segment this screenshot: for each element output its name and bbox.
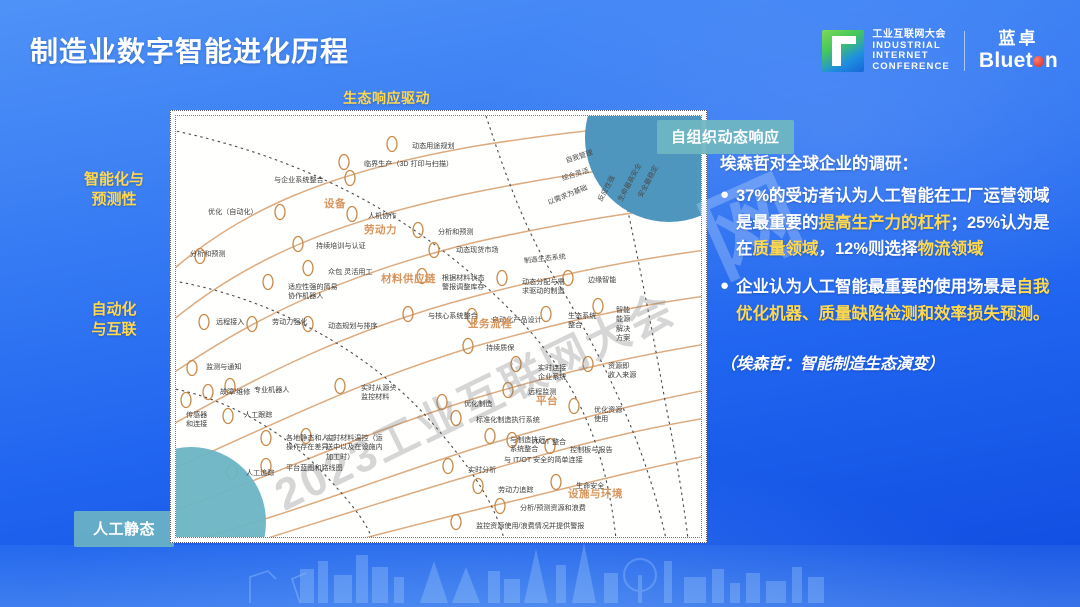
brand-name-cn: 蓝卓 (979, 30, 1058, 49)
diagram-node-label: 分析和预测 (190, 250, 225, 259)
diagram-caption-ecosystem-driven: 生态响应驱动 (343, 88, 430, 108)
insights-list: ●37%的受访者认为人工智能在工厂运营领域是最重要的提高生产力的杠杆；25%认为… (720, 183, 1062, 328)
logo-block: 工业互联网大会 INDUSTRIAL INTERNET CONFERENCE 蓝… (822, 22, 1058, 80)
diagram-node-label: 众包 灵活用工 (328, 268, 373, 277)
diagram-node-label: 人工跟踪 (244, 411, 272, 420)
diagram-node-label: 根据材料状态 警报调整库存 (442, 274, 485, 293)
bullet-icon: ● (720, 274, 736, 327)
diagram-node-label: 监测与通知 (206, 363, 241, 372)
diagram-node-label: 控制板与报告 (570, 446, 613, 455)
diagram-node-label: 实时分析 (468, 466, 496, 475)
diagram-node-label: 传感器 和连接 (186, 411, 207, 430)
insight-item: ●37%的受访者认为人工智能在工厂运营领域是最重要的提高生产力的杠杆；25%认为… (720, 183, 1062, 263)
insights-source: （埃森哲：智能制造生态演变） (720, 350, 1062, 374)
logo-divider (964, 31, 965, 71)
diagram-node-label: 劳动力追踪 (498, 486, 533, 495)
diagram-node-label: 实时连接 企业系统 (538, 364, 566, 383)
conference-name-en-line3: CONFERENCE (872, 62, 950, 73)
diagram-node-label: 资源即 收入来源 (608, 362, 636, 381)
diagram-node-label: 专业机器人 (254, 386, 289, 395)
axis-label-automation-connected: 自动化 与互联 (52, 300, 176, 340)
diagram-node-label: 动态用途规划 (412, 142, 455, 151)
insight-highlight: 提高生产力的杠杆 (819, 214, 951, 232)
diagram-node-label: 动态规划与排序 (328, 322, 378, 331)
insight-highlight: 物流领域 (918, 240, 984, 258)
diagram-node-label: 劳动力强化 (272, 318, 307, 327)
insight-text: 企业认为人工智能最重要的使用场景是自我优化机器、质量缺陷检测和效率损失预测。 (736, 274, 1062, 327)
brand-en-suffix: n (1045, 49, 1058, 72)
diagram-canvas: 2023工业互联网大会 分析和预测优化（自动化）与企业系统整合远程接入监测与通知… (175, 115, 702, 538)
diagram-group-label: 材料供应链 (381, 271, 436, 286)
diagram-node-label: 人机协作 (368, 212, 396, 221)
insight-plain: 企业认为人工智能最重要的使用场景是 (736, 278, 1017, 296)
diagram-node-label: 标准化制造执行系统 (476, 416, 540, 425)
axis-label-manual-static: 人工静态 (74, 511, 174, 547)
diagram-node-label: 分析/预测资源和浪费 (520, 504, 586, 513)
t-mark-icon (822, 30, 864, 72)
brand-name-en: Bluetn (979, 49, 1058, 72)
diagram-node-label: 实时从源头 监控材料 (361, 384, 396, 403)
diagram-group-label: 劳动力 (364, 222, 397, 237)
conference-logo: 工业互联网大会 INDUSTRIAL INTERNET CONFERENCE (822, 29, 950, 72)
diagram-group-label: 设备 (324, 196, 346, 211)
diagram-node-label: 优化（自动化） (208, 208, 258, 217)
diagram-node-label: 与企业系统整合 (274, 176, 324, 185)
diagram-node-label: 分析和预测 (438, 228, 473, 237)
diagram-group-label: 业务流程 (468, 316, 512, 331)
bullet-icon: ● (720, 183, 736, 263)
brand-en-prefix: Bluet (979, 49, 1033, 72)
badge-self-organizing-response: 自组织动态响应 (657, 120, 794, 154)
horizon-glow (0, 545, 1080, 607)
axis-label-intelligent-predictive: 智能化与 预测性 (52, 170, 176, 210)
conference-name-cn: 工业互联网大会 (872, 29, 950, 40)
diagram-node-label: 边缘智能 (588, 276, 616, 285)
globe-dot-icon (1033, 56, 1044, 67)
insight-plain: ，12%则选择 (819, 240, 918, 258)
insight-highlight: 质量领域 (753, 240, 819, 258)
diagram-node-label: 优化制造 (464, 400, 492, 409)
diagram-node-label: 持续培训与认证 (316, 242, 366, 251)
diagram-node-label: 平台蓝图和路线图 (286, 464, 343, 473)
diagram-group-label: 平台 (536, 393, 558, 408)
diagram-group-label: 设施与环境 (568, 486, 623, 501)
diagram-node-label: 智能 能源 解决 方案 (616, 306, 630, 344)
brand-logo: 蓝卓 Bluetn (979, 30, 1058, 72)
diagram-node-label: 优化资源 使用 (594, 406, 622, 425)
diagram-node-label: 适应性强的简易 协作机器人 (288, 283, 338, 302)
page-title: 制造业数字智能进化历程 (30, 30, 349, 70)
diagram-node-label: 生态系统 整合 (568, 312, 596, 331)
insight-text: 37%的受访者认为人工智能在工厂运营领域是最重要的提高生产力的杠杆；25%认为是… (736, 183, 1062, 263)
diagram-node-label: 远程接入 (216, 318, 244, 327)
diagram-node-label: 各地静态和人工 操作存在差异 (286, 434, 336, 453)
diagram-node-label: 动态现货市场 (456, 246, 499, 255)
diagram-node-label: 持续质保 (486, 344, 514, 353)
diagram-node-label: 监控资源使用/浪费情况并提供警报 (476, 522, 584, 531)
diagram-node-label: 人工追踪 (246, 469, 274, 478)
insights-panel: 埃森哲对全球企业的调研： ●37%的受访者认为人工智能在工厂运营领域是最重要的提… (720, 150, 1062, 374)
diagram-node-label: 与 IT/OT 安全的简单连接 (504, 456, 583, 465)
diagram-node-label: 临界生产（3D 打印与扫描） (364, 160, 453, 169)
evolution-diagram-panel: 2023工业互联网大会 分析和预测优化（自动化）与企业系统整合远程接入监测与通知… (170, 110, 707, 543)
diagram-node-label: IT/OT 整合 (532, 438, 566, 447)
diagram-node-label: 动态分配与需 求驱动的制造 (522, 278, 565, 297)
diagram-node-label: 故障/维修 (220, 388, 250, 397)
insight-item: ●企业认为人工智能最重要的使用场景是自我优化机器、质量缺陷检测和效率损失预测。 (720, 274, 1062, 327)
